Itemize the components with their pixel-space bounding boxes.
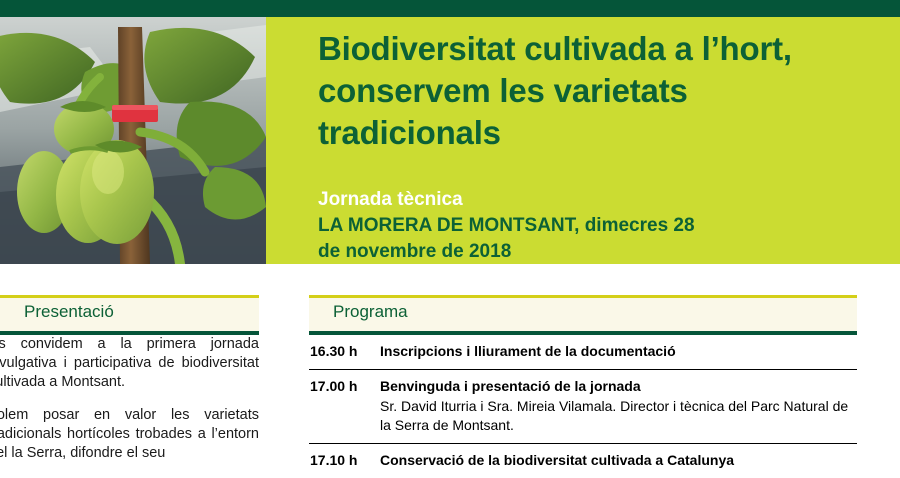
- presentation-section-header: Presentació: [0, 295, 259, 335]
- program-entry-title: Conservació de la biodiversitat cultivad…: [380, 451, 857, 470]
- program-column: Programa 16.30 h Inscripcions i lliurame…: [309, 295, 857, 478]
- program-row: 17.00 h Benvinguda i presentació de la j…: [309, 370, 857, 444]
- poster-header: Biodiversitat cultivada a l’hort, conser…: [0, 17, 900, 264]
- presentation-paragraph: Us convidem a la primera jornada divulga…: [0, 335, 259, 392]
- presentation-section-title: Presentació: [24, 302, 114, 322]
- header-photo: [0, 17, 266, 264]
- program-entry: Conservació de la biodiversitat cultivad…: [372, 451, 857, 470]
- page-title: Biodiversitat cultivada a l’hort, conser…: [318, 28, 878, 154]
- program-entry: Benvinguda i presentació de la jornada S…: [372, 377, 857, 435]
- presentation-body: Us convidem a la primera jornada divulga…: [0, 335, 259, 463]
- header-subtitle: Jornada tècnica LA MORERA DE MONTSANT, d…: [318, 187, 888, 265]
- top-accent-bar: [0, 0, 900, 17]
- program-time: 17.10 h: [309, 451, 372, 470]
- program-row: 16.30 h Inscripcions i lliurament de la …: [309, 335, 857, 370]
- program-section-title: Programa: [333, 302, 408, 322]
- program-time: 17.00 h: [309, 377, 372, 396]
- program-entry-title: Benvinguda i presentació de la jornada: [380, 377, 857, 396]
- tomato-plant-photo: [0, 17, 266, 264]
- presentation-paragraph: Volem posar en valor les varietats tradi…: [0, 406, 259, 463]
- program-row: 17.10 h Conservació de la biodiversitat …: [309, 444, 857, 478]
- program-time: 16.30 h: [309, 342, 372, 361]
- event-place-line-1: LA MORERA DE MONTSANT, dimecres 28: [318, 213, 888, 239]
- program-entry: Inscripcions i lliurament de la document…: [372, 342, 857, 361]
- header-text-panel: Biodiversitat cultivada a l’hort, conser…: [266, 17, 900, 264]
- program-entry-speaker: Sr. David Iturria i Sra. Mireia Vilamala…: [380, 396, 857, 435]
- presentation-column: Presentació Us convidem a la primera jor…: [0, 295, 259, 477]
- event-type-label: Jornada tècnica: [318, 187, 888, 213]
- program-section-header: Programa: [309, 295, 857, 335]
- program-entry-title: Inscripcions i lliurament de la document…: [380, 342, 857, 361]
- event-place-line-2: de novembre de 2018: [318, 239, 888, 265]
